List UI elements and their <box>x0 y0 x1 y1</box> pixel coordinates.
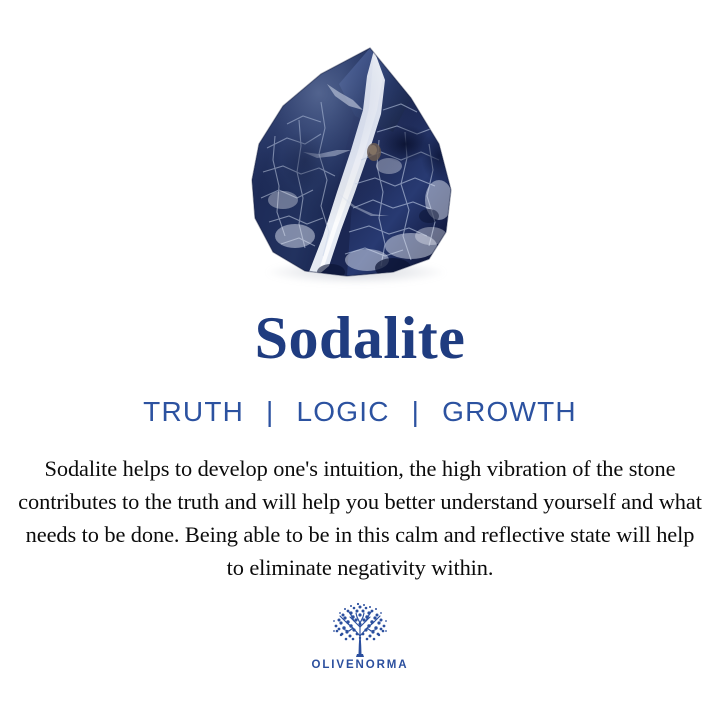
keyword-truth: TRUTH <box>143 396 244 427</box>
brand-logo: OLIVENORMA <box>312 585 409 671</box>
keyword-growth: GROWTH <box>442 396 577 427</box>
description-text: Sodalite helps to develop one's intuitio… <box>15 428 705 585</box>
keyword-separator: | <box>399 396 433 428</box>
keyword-list: TRUTH | LOGIC | GROWTH <box>143 368 577 428</box>
crystal-body <box>243 40 459 280</box>
sodalite-crystal-image <box>243 40 459 280</box>
keyword-separator: | <box>253 396 287 428</box>
keyword-logic: LOGIC <box>297 396 390 427</box>
brand-name: OLIVENORMA <box>312 659 409 671</box>
crystal-svg <box>243 40 459 280</box>
tree-of-life-icon <box>323 601 397 657</box>
product-info-card: Sodalite TRUTH | LOGIC | GROWTH Sodalite… <box>0 0 720 720</box>
page-title: Sodalite <box>255 292 466 368</box>
hero-section <box>0 0 720 292</box>
